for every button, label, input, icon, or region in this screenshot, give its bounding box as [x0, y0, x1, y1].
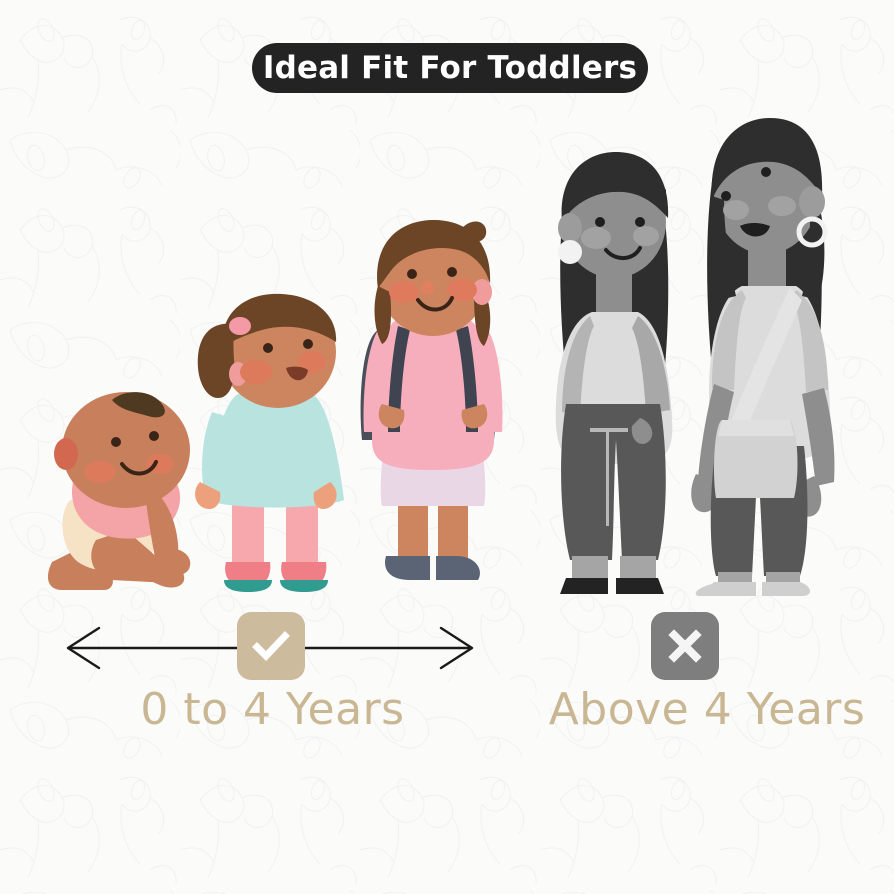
figure-schoolgirl-backpack: [361, 220, 503, 580]
figure-toddler-girl: [195, 294, 344, 592]
check-icon: [250, 625, 292, 667]
figure-adult-joggers: [556, 152, 673, 594]
infographic-canvas: Ideal Fit For Toddlers: [0, 0, 894, 894]
cross-icon: [666, 627, 704, 665]
caption-age-range-suitable: 0 to 4 Years: [0, 684, 545, 735]
figure-crawling-baby: [48, 392, 190, 590]
status-badge-rejected: [651, 612, 719, 680]
figures-illustration: [0, 0, 894, 894]
status-badge-approved: [237, 612, 305, 680]
caption-age-range-unsuitable: Above 4 Years: [520, 684, 894, 735]
figure-adult-with-bag: [691, 118, 834, 596]
